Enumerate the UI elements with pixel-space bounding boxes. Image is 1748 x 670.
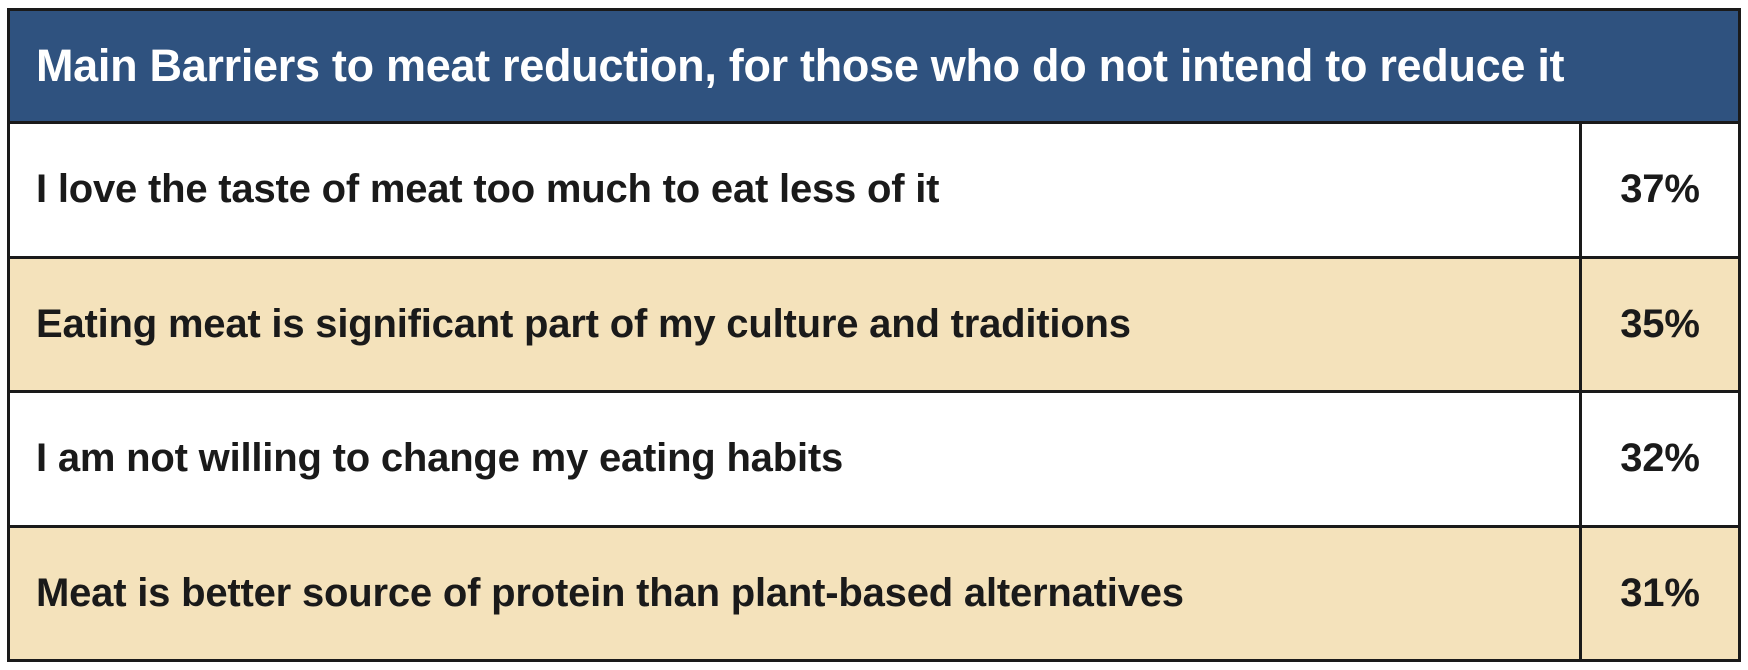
barrier-label-cell: Meat is better source of protein than pl… (10, 528, 1582, 660)
barrier-percent: 37% (1620, 168, 1699, 211)
barrier-label: I love the taste of meat too much to eat… (36, 168, 939, 211)
table-body: I love the taste of meat too much to eat… (10, 124, 1738, 659)
barrier-label-cell: Eating meat is significant part of my cu… (10, 259, 1582, 391)
barrier-label-cell: I love the taste of meat too much to eat… (10, 124, 1582, 256)
table-row: I love the taste of meat too much to eat… (10, 124, 1738, 259)
barrier-percent-cell: 32% (1582, 393, 1738, 525)
barrier-label: Meat is better source of protein than pl… (36, 572, 1184, 615)
barrier-label: I am not willing to change my eating hab… (36, 437, 843, 480)
table-title: Main Barriers to meat reduction, for tho… (36, 42, 1564, 89)
barriers-table: Main Barriers to meat reduction, for tho… (7, 8, 1741, 662)
barrier-label-cell: I am not willing to change my eating hab… (10, 393, 1582, 525)
barrier-percent: 35% (1620, 303, 1699, 346)
barrier-percent: 32% (1620, 437, 1699, 480)
barrier-percent: 31% (1620, 572, 1699, 615)
table-row: I am not willing to change my eating hab… (10, 393, 1738, 528)
barrier-label: Eating meat is significant part of my cu… (36, 303, 1131, 346)
table-row: Meat is better source of protein than pl… (10, 528, 1738, 660)
table-header-row: Main Barriers to meat reduction, for tho… (10, 11, 1738, 124)
table-row: Eating meat is significant part of my cu… (10, 259, 1738, 394)
barrier-percent-cell: 37% (1582, 124, 1738, 256)
barrier-percent-cell: 31% (1582, 528, 1738, 660)
barrier-percent-cell: 35% (1582, 259, 1738, 391)
